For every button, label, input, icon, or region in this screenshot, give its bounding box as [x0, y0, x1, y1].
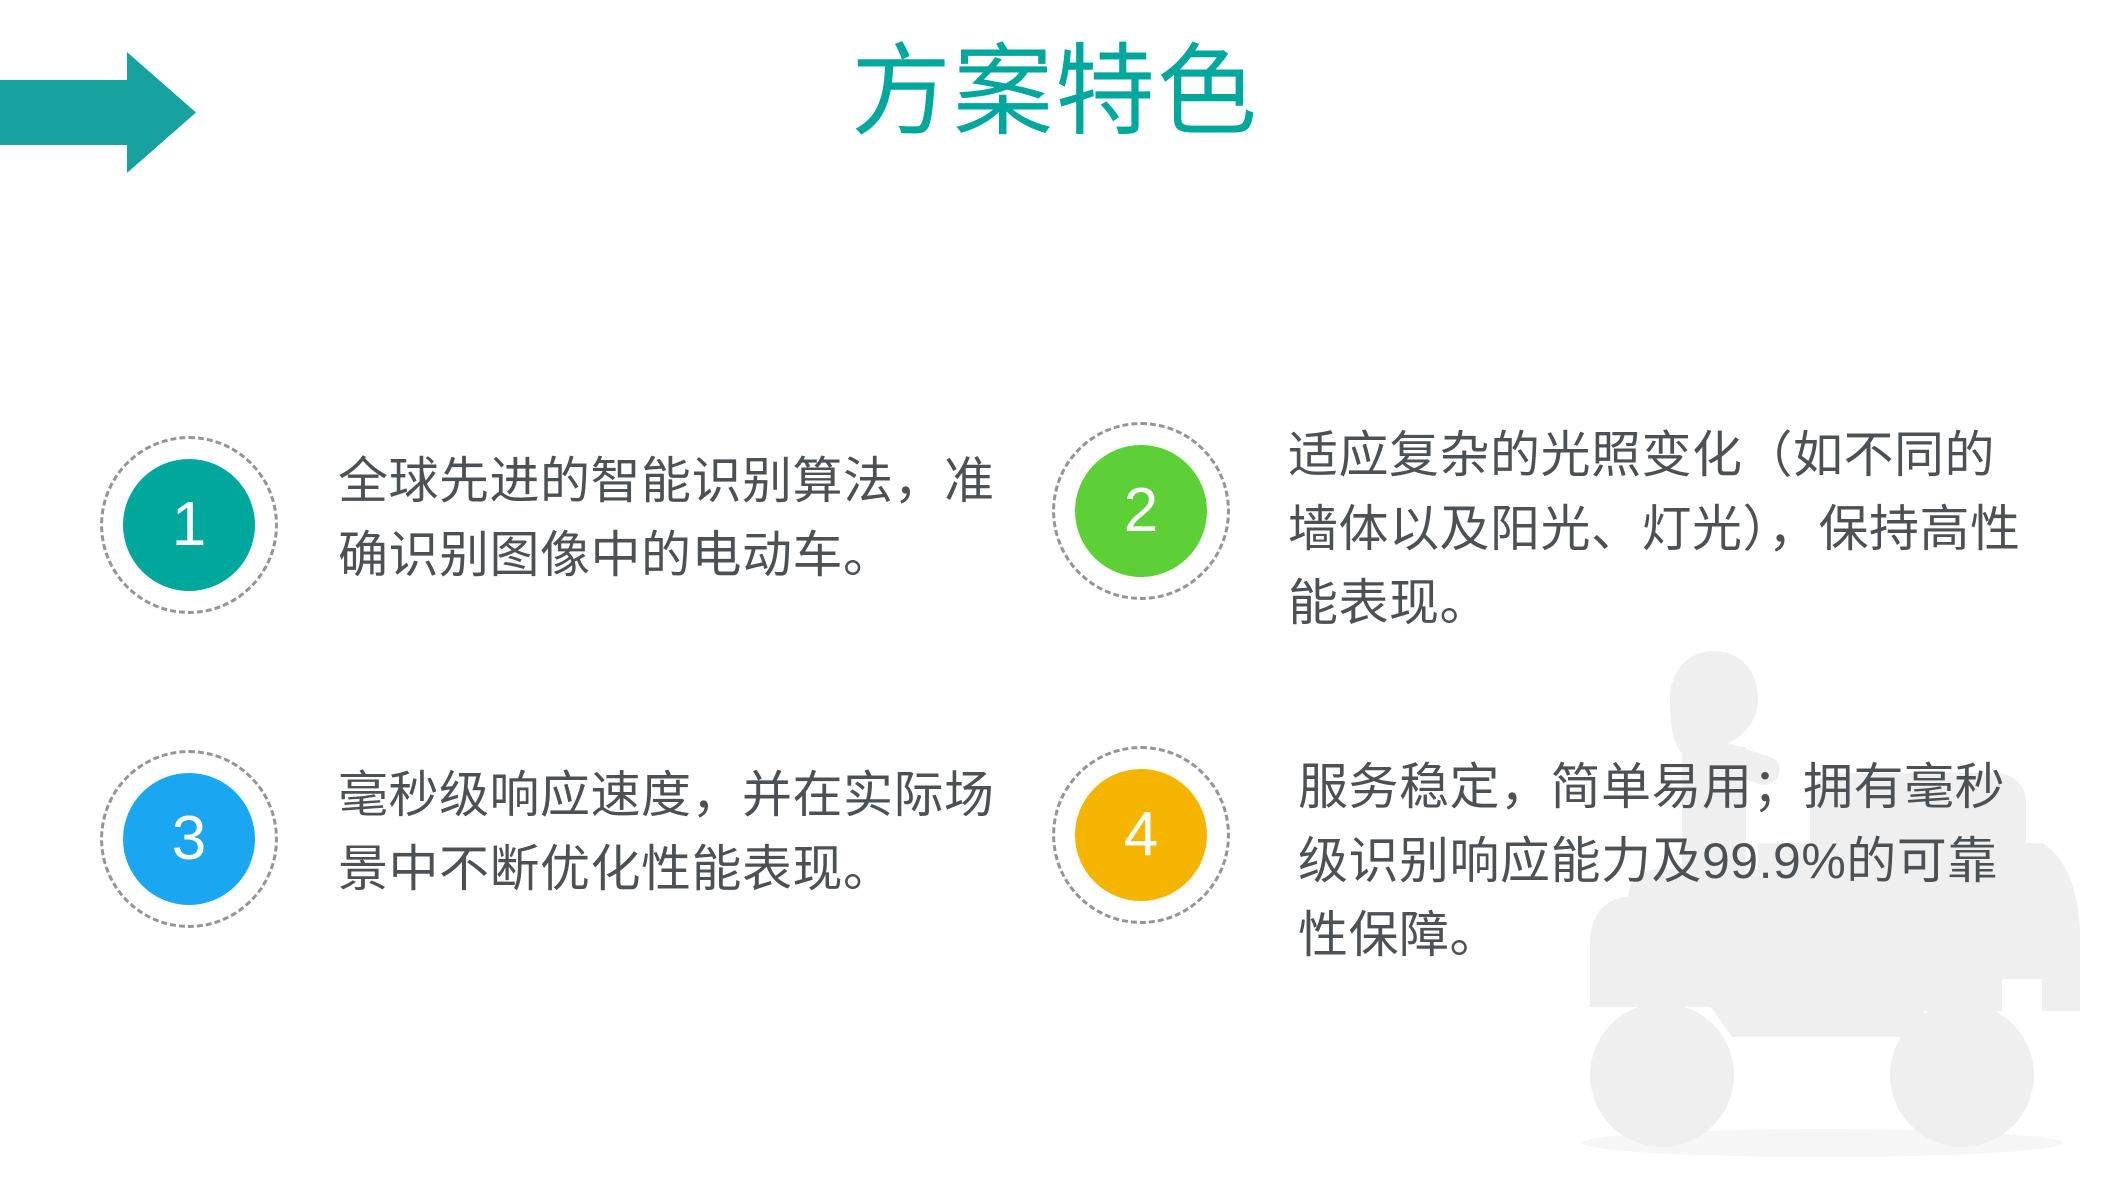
feature-item-2[interactable]: 2 适应复杂的光照变化（如不同的墙体以及阳光、灯光），保持高性能表现。: [1040, 418, 2030, 718]
page-title: 方案特色: [0, 32, 2110, 152]
feature-badge-1: 1: [100, 436, 278, 614]
feature-text-4: 服务稳定，简单易用；拥有毫秒级识别响应能力及99.9%的可靠性保障。: [1298, 742, 2030, 972]
feature-number-1: 1: [123, 459, 255, 591]
feature-number-2: 2: [1075, 445, 1207, 577]
feature-badge-4: 4: [1052, 746, 1230, 924]
slide-canvas: 方案特色 1 全球先进的智能识别算法，准确识别图像中的电动车。 2 适应复杂的光…: [0, 0, 2110, 1187]
feature-item-1[interactable]: 1 全球先进的智能识别算法，准确识别图像中的电动车。: [100, 432, 1040, 732]
feature-text-3: 毫秒级响应速度，并在实际场景中不断优化性能表现。: [338, 746, 1040, 906]
feature-text-1: 全球先进的智能识别算法，准确识别图像中的电动车。: [338, 432, 1040, 592]
feature-grid: 1 全球先进的智能识别算法，准确识别图像中的电动车。 2 适应复杂的光照变化（如…: [100, 418, 2030, 1018]
feature-item-3[interactable]: 3 毫秒级响应速度，并在实际场景中不断优化性能表现。: [100, 746, 1040, 1046]
feature-badge-2: 2: [1052, 422, 1230, 600]
feature-text-2: 适应复杂的光照变化（如不同的墙体以及阳光、灯光），保持高性能表现。: [1288, 418, 2030, 640]
feature-item-4[interactable]: 4 服务稳定，简单易用；拥有毫秒级识别响应能力及99.9%的可靠性保障。: [1040, 742, 2030, 1042]
feature-number-3: 3: [123, 773, 255, 905]
feature-badge-3: 3: [100, 750, 278, 928]
feature-number-4: 4: [1075, 769, 1207, 901]
